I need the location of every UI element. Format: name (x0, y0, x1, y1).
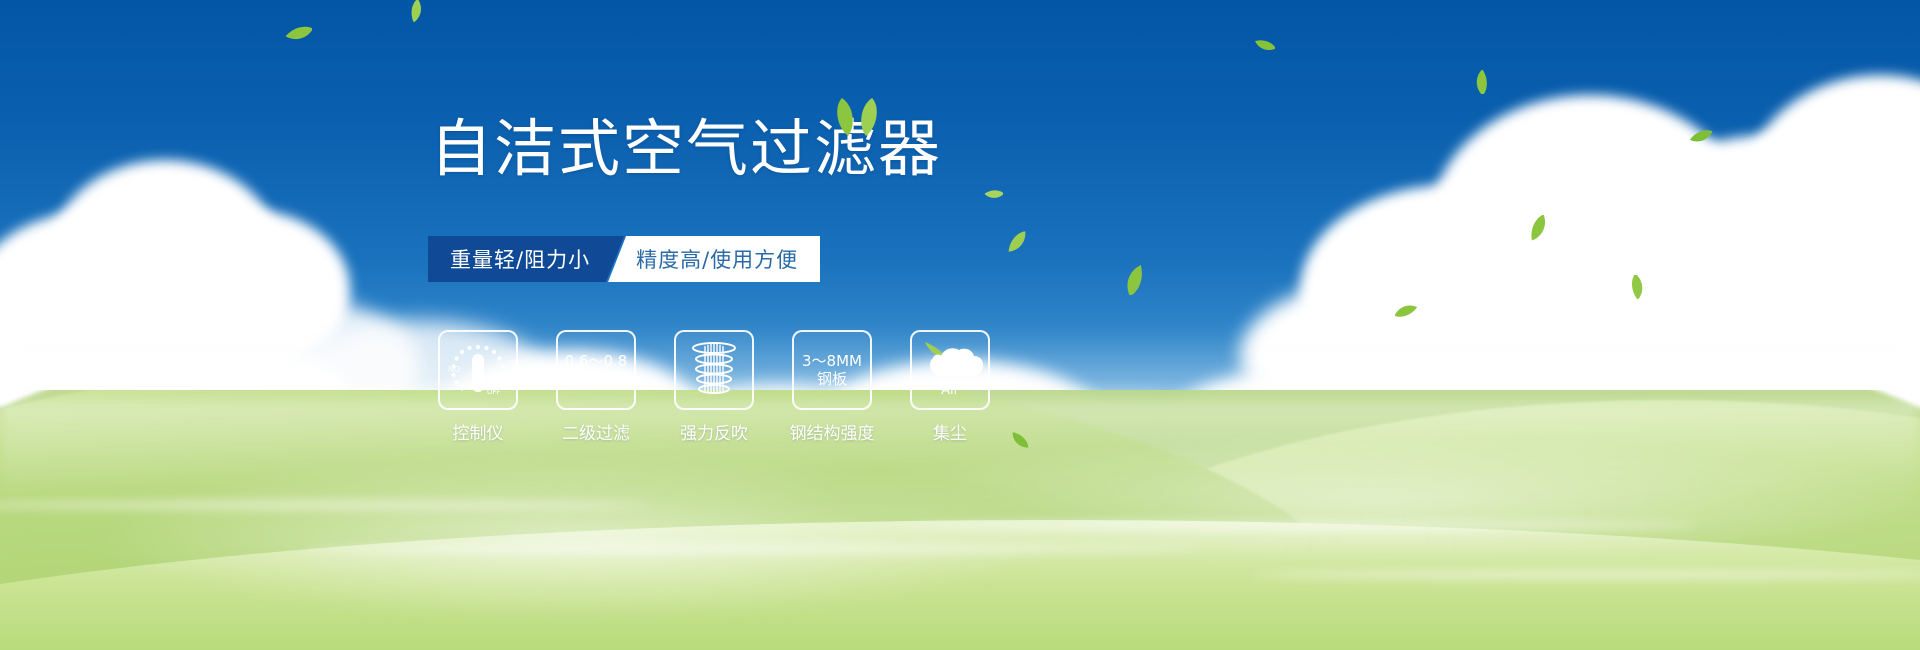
feature-item-control-instrument[interactable]: NO OFF 控制仪 (438, 330, 518, 444)
filter-coil-icon (685, 340, 743, 400)
feature-line-2: MPA (580, 370, 611, 388)
feature-item-dust-collection[interactable]: Air 集尘 (910, 330, 990, 444)
feature-line-1: 0.6～0.8 (565, 352, 628, 370)
tab-precision-convenience[interactable]: 精度高/使用方便 (608, 236, 820, 282)
feature-box: NO OFF (438, 330, 518, 410)
feature-caption: 强力反吹 (680, 419, 748, 444)
title-block: 自洁式空气过滤器 (430, 118, 942, 180)
feature-line-2: 钢板 (817, 370, 847, 388)
feature-caption: 二级过滤 (562, 419, 630, 444)
feature-line-1: 3～8MM (802, 352, 862, 370)
hero-banner: 自洁式空气过滤器 重量轻/阻力小 精度高/使用方便 (0, 0, 1920, 650)
svg-text:OFF: OFF (487, 388, 501, 396)
feature-caption: 集尘 (933, 419, 967, 444)
feature-item-strong-backblow[interactable]: 强力反吹 (674, 330, 754, 444)
control-dial-icon: NO OFF (447, 341, 509, 399)
banner-content: 自洁式空气过滤器 重量轻/阻力小 精度高/使用方便 (0, 0, 1920, 650)
svg-text:NO: NO (448, 365, 460, 374)
tab-weight-resistance[interactable]: 重量轻/阻力小 (428, 236, 624, 282)
feature-item-two-stage-filtration[interactable]: 0.6～0.8 MPA 二级过滤 (556, 330, 636, 444)
feature-caption: 控制仪 (453, 419, 504, 444)
title-leaf-decoration-icon (822, 96, 892, 138)
feature-icon-row: NO OFF 控制仪 0.6～0.8 MPA 二级过滤 (438, 330, 990, 444)
feature-item-steel-structure-strength[interactable]: 3～8MM 钢板 钢结构强度 (792, 330, 872, 444)
feature-box: Air (910, 330, 990, 410)
feature-line-2: Air (912, 383, 988, 399)
feature-tabs: 重量轻/阻力小 精度高/使用方便 (428, 236, 820, 282)
feature-box (674, 330, 754, 410)
feature-box: 0.6～0.8 MPA (556, 330, 636, 410)
feature-caption: 钢结构强度 (790, 419, 875, 444)
feature-box: 3～8MM 钢板 (792, 330, 872, 410)
